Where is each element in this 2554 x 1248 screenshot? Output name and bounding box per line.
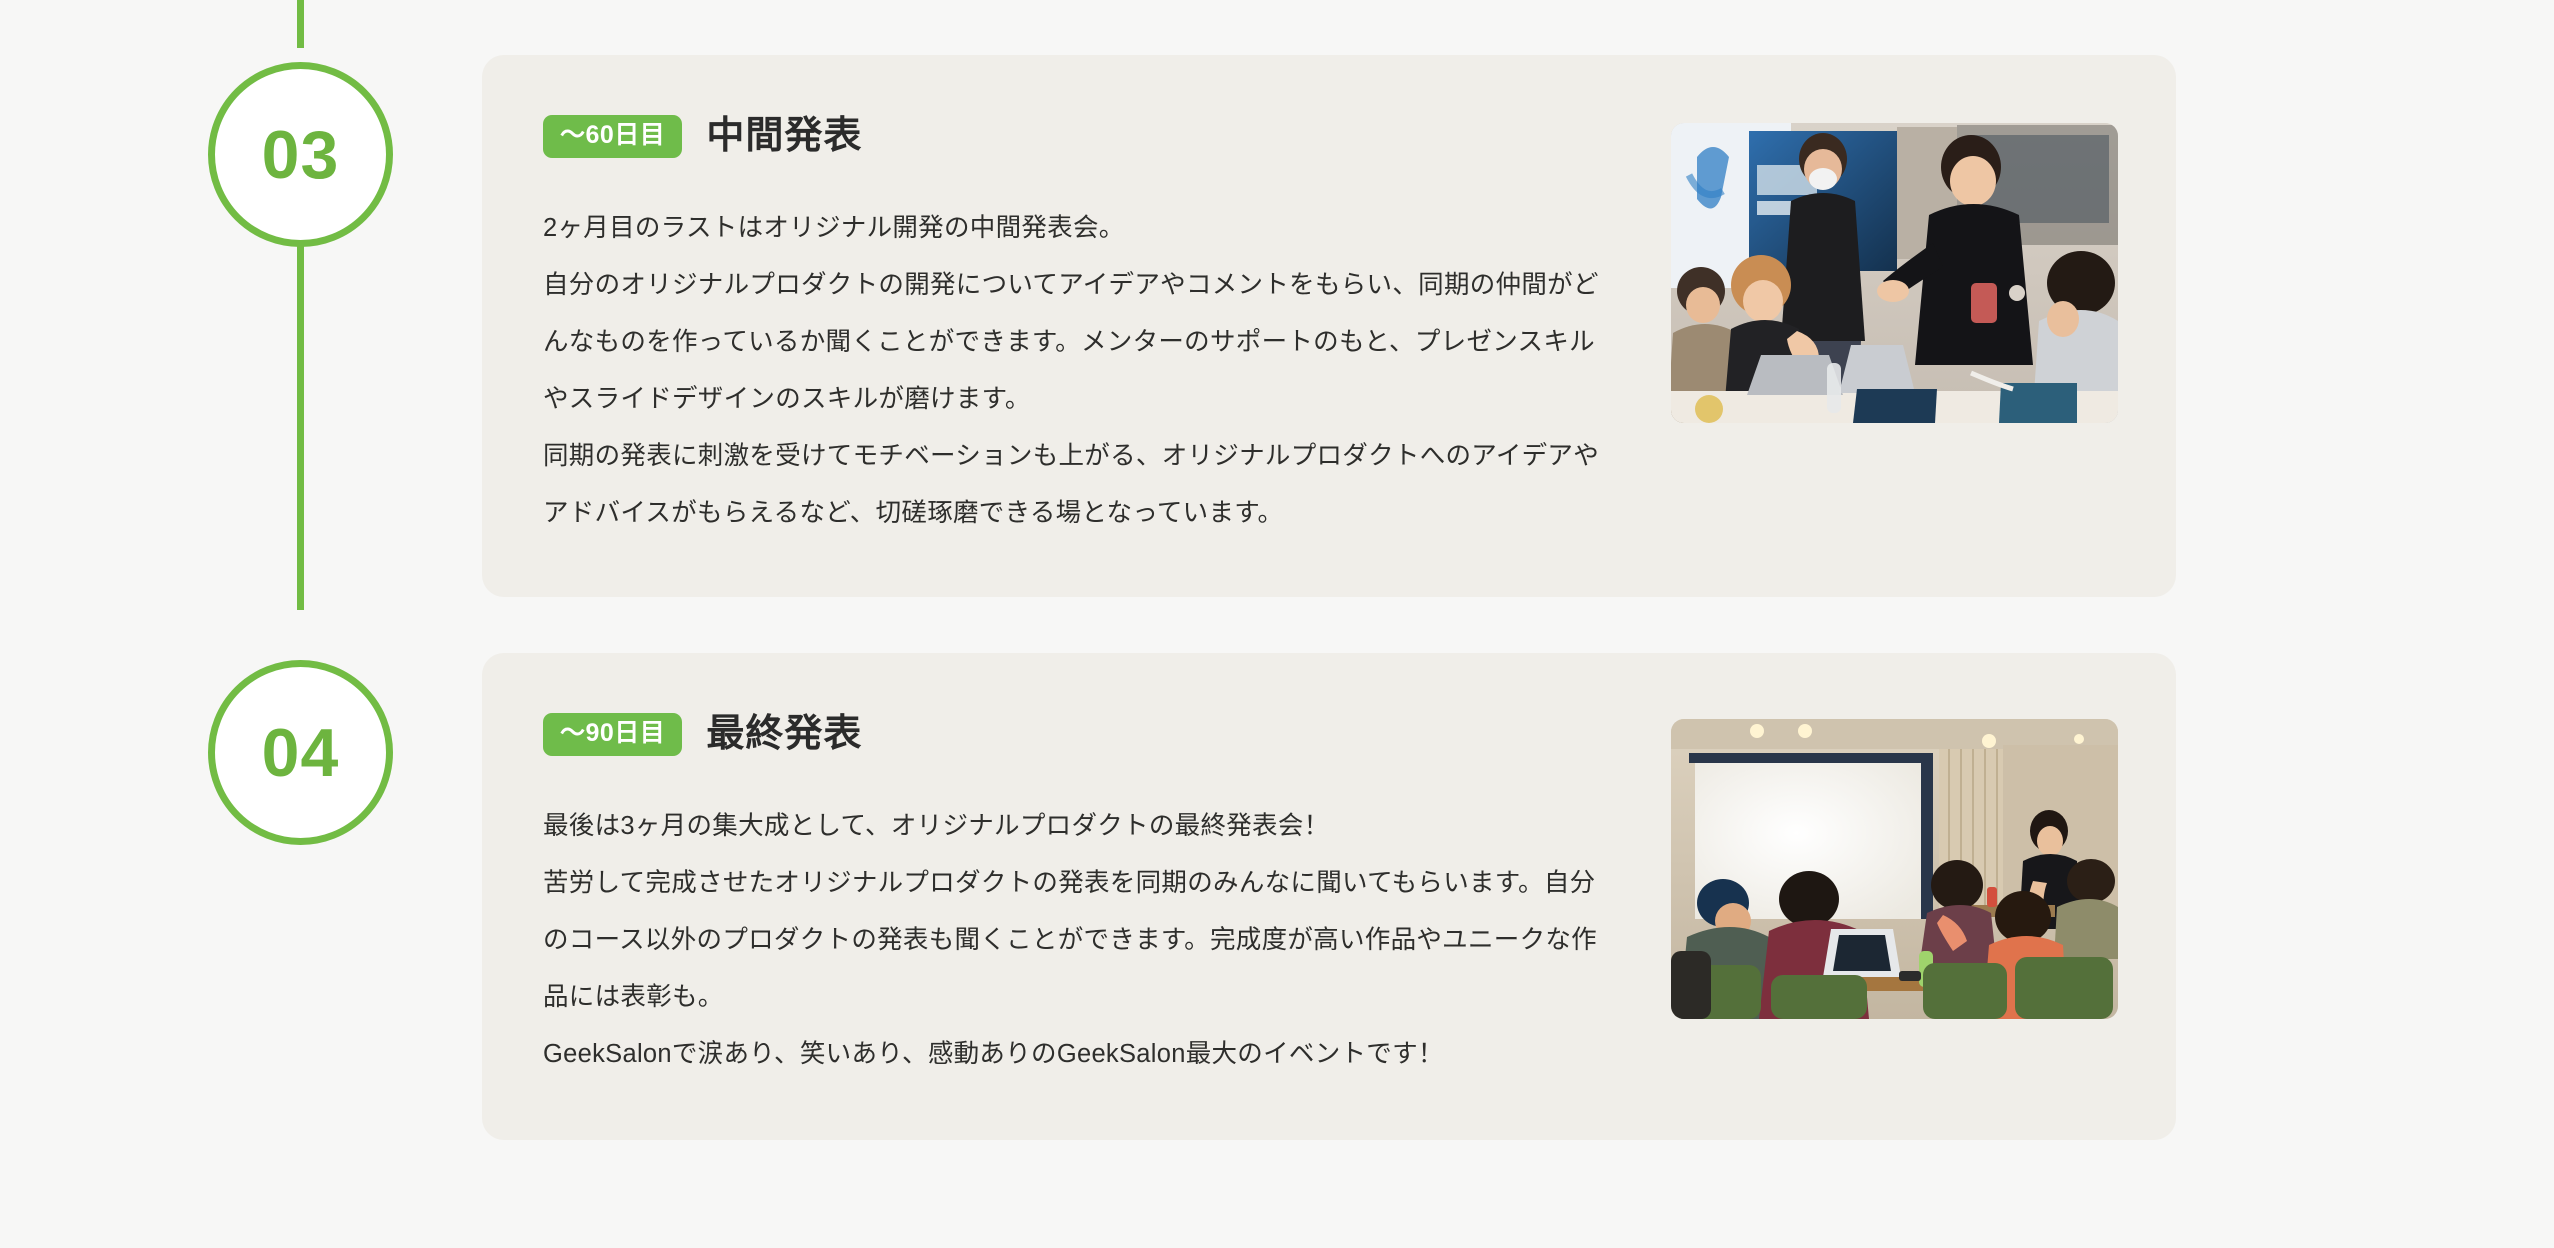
step-number-badge-03: 03 [208,62,393,247]
step-number-label: 04 [262,719,340,787]
timeline-card-04: 〜90日目 最終発表 最後は3ヶ月の集大成として、オリジナルプロダクトの最終発表… [482,653,2176,1140]
card-paragraph: 苦労して完成させたオリジナルプロダクトの発表を同期のみんなに聞いてもらいます。自… [543,855,1607,1026]
step-number-label: 03 [262,121,340,189]
card-title-03: 中間発表 [706,117,862,155]
timeline-section: 03 〜60日目 中間発表 2ヶ月目のラストはオリジナル開発の中間発表会。 自分… [0,0,2554,1248]
presentation-photo-illustration [1671,719,2118,1019]
day-badge-03: 〜60日目 [543,115,682,158]
card-photo-03 [1671,123,2118,423]
card-body-04: 最後は3ヶ月の集大成として、オリジナルプロダクトの最終発表会！ 苦労して完成させ… [543,798,1607,1083]
card-paragraph: 2ヶ月目のラストはオリジナル開発の中間発表会。 [543,200,1607,257]
card-paragraph: 同期の発表に刺激を受けてモチベーションも上がる、オリジナルプロダクトへのアイデア… [543,428,1607,542]
day-badge-04: 〜90日目 [543,713,682,756]
card-paragraph: 最後は3ヶ月の集大成として、オリジナルプロダクトの最終発表会！ [543,798,1607,855]
card-paragraph: GeekSalonで涙あり、笑いあり、感動ありのGeekSalon最大のイベント… [543,1026,1607,1083]
step-number-badge-04: 04 [208,660,393,845]
timeline-rail-top [297,0,304,48]
card-title-04: 最終発表 [706,715,862,753]
timeline-rail-middle [297,215,304,610]
card-paragraph: 自分のオリジナルプロダクトの開発についてアイデアやコメントをもらい、同期の仲間が… [543,257,1607,428]
timeline-card-03: 〜60日目 中間発表 2ヶ月目のラストはオリジナル開発の中間発表会。 自分のオリ… [482,55,2176,597]
meeting-photo-illustration [1671,123,2118,423]
card-body-03: 2ヶ月目のラストはオリジナル開発の中間発表会。 自分のオリジナルプロダクトの開発… [543,200,1607,542]
card-photo-04 [1671,719,2118,1019]
